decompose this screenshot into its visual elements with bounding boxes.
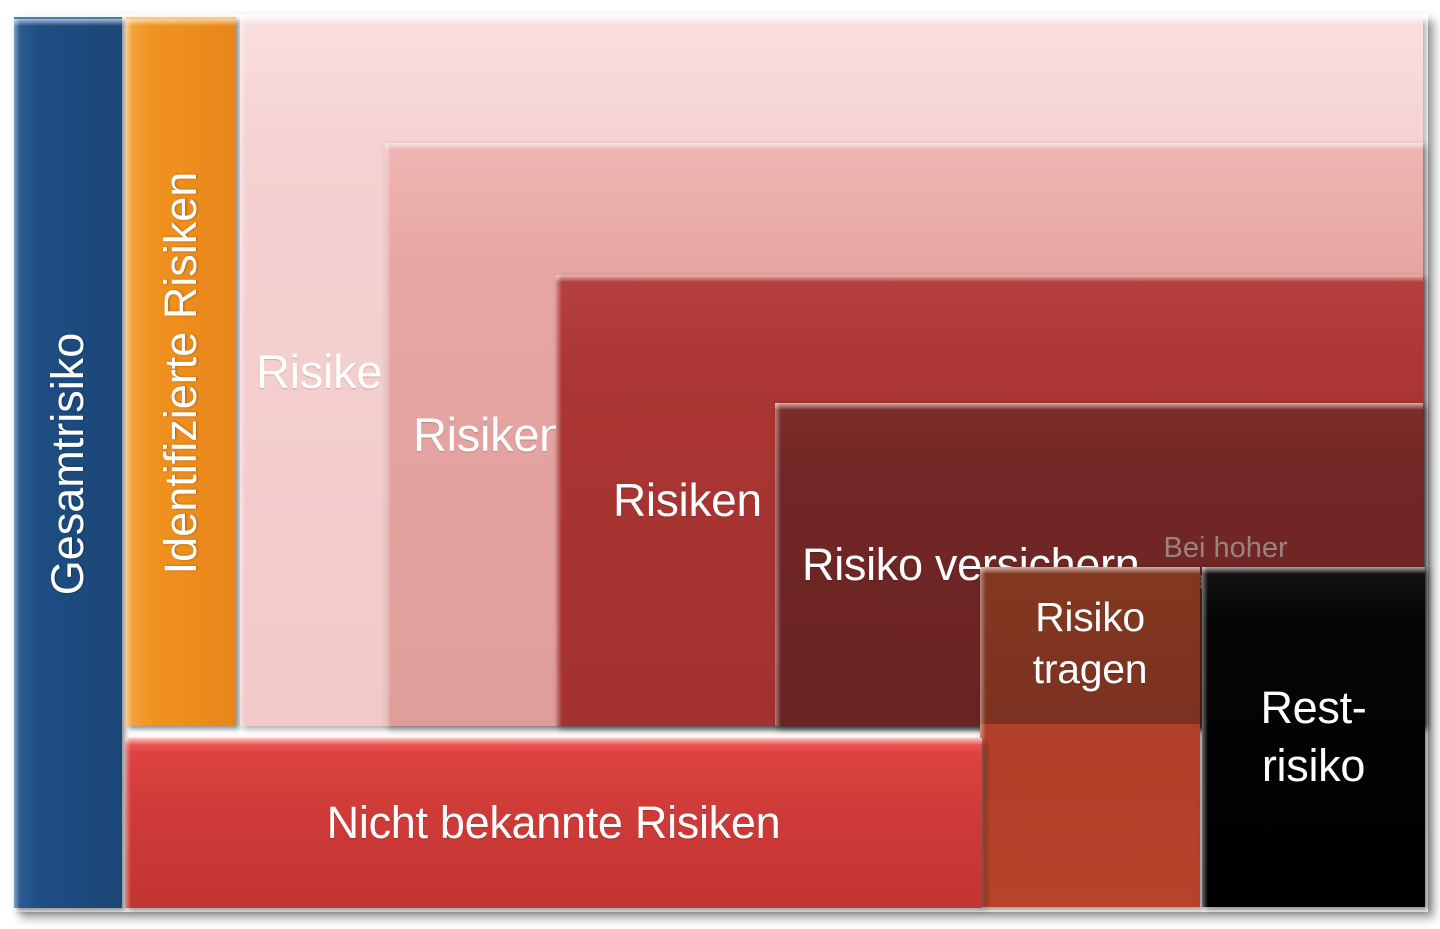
label-nicht-bekannte-risiken: Nicht bekannte Risiken bbox=[327, 800, 781, 846]
block-restrisiko[interactable]: Rest- risiko bbox=[1202, 567, 1425, 907]
bar-gesamtrisiko-label: Gesamtrisiko bbox=[42, 332, 94, 595]
risk-strategy-diagram: Gesamtrisiko Identifizierte Risiken Risi… bbox=[0, 0, 1440, 929]
bar-gesamtrisiko[interactable]: Gesamtrisiko bbox=[14, 17, 122, 908]
bar-identifizierte-risiken-label: Identifizierte Risiken bbox=[155, 171, 207, 574]
strategy-block-risiko-tragen[interactable]: Risiko tragen bbox=[980, 567, 1200, 907]
block-nicht-bekannte-risiken[interactable]: Nicht bekannte Risiken bbox=[125, 738, 982, 908]
label-restrisiko: Rest- risiko bbox=[1260, 679, 1366, 794]
bar-identifizierte-risiken[interactable]: Identifizierte Risiken bbox=[126, 17, 236, 726]
strategy-title-tragen: Risiko tragen bbox=[1033, 591, 1147, 696]
